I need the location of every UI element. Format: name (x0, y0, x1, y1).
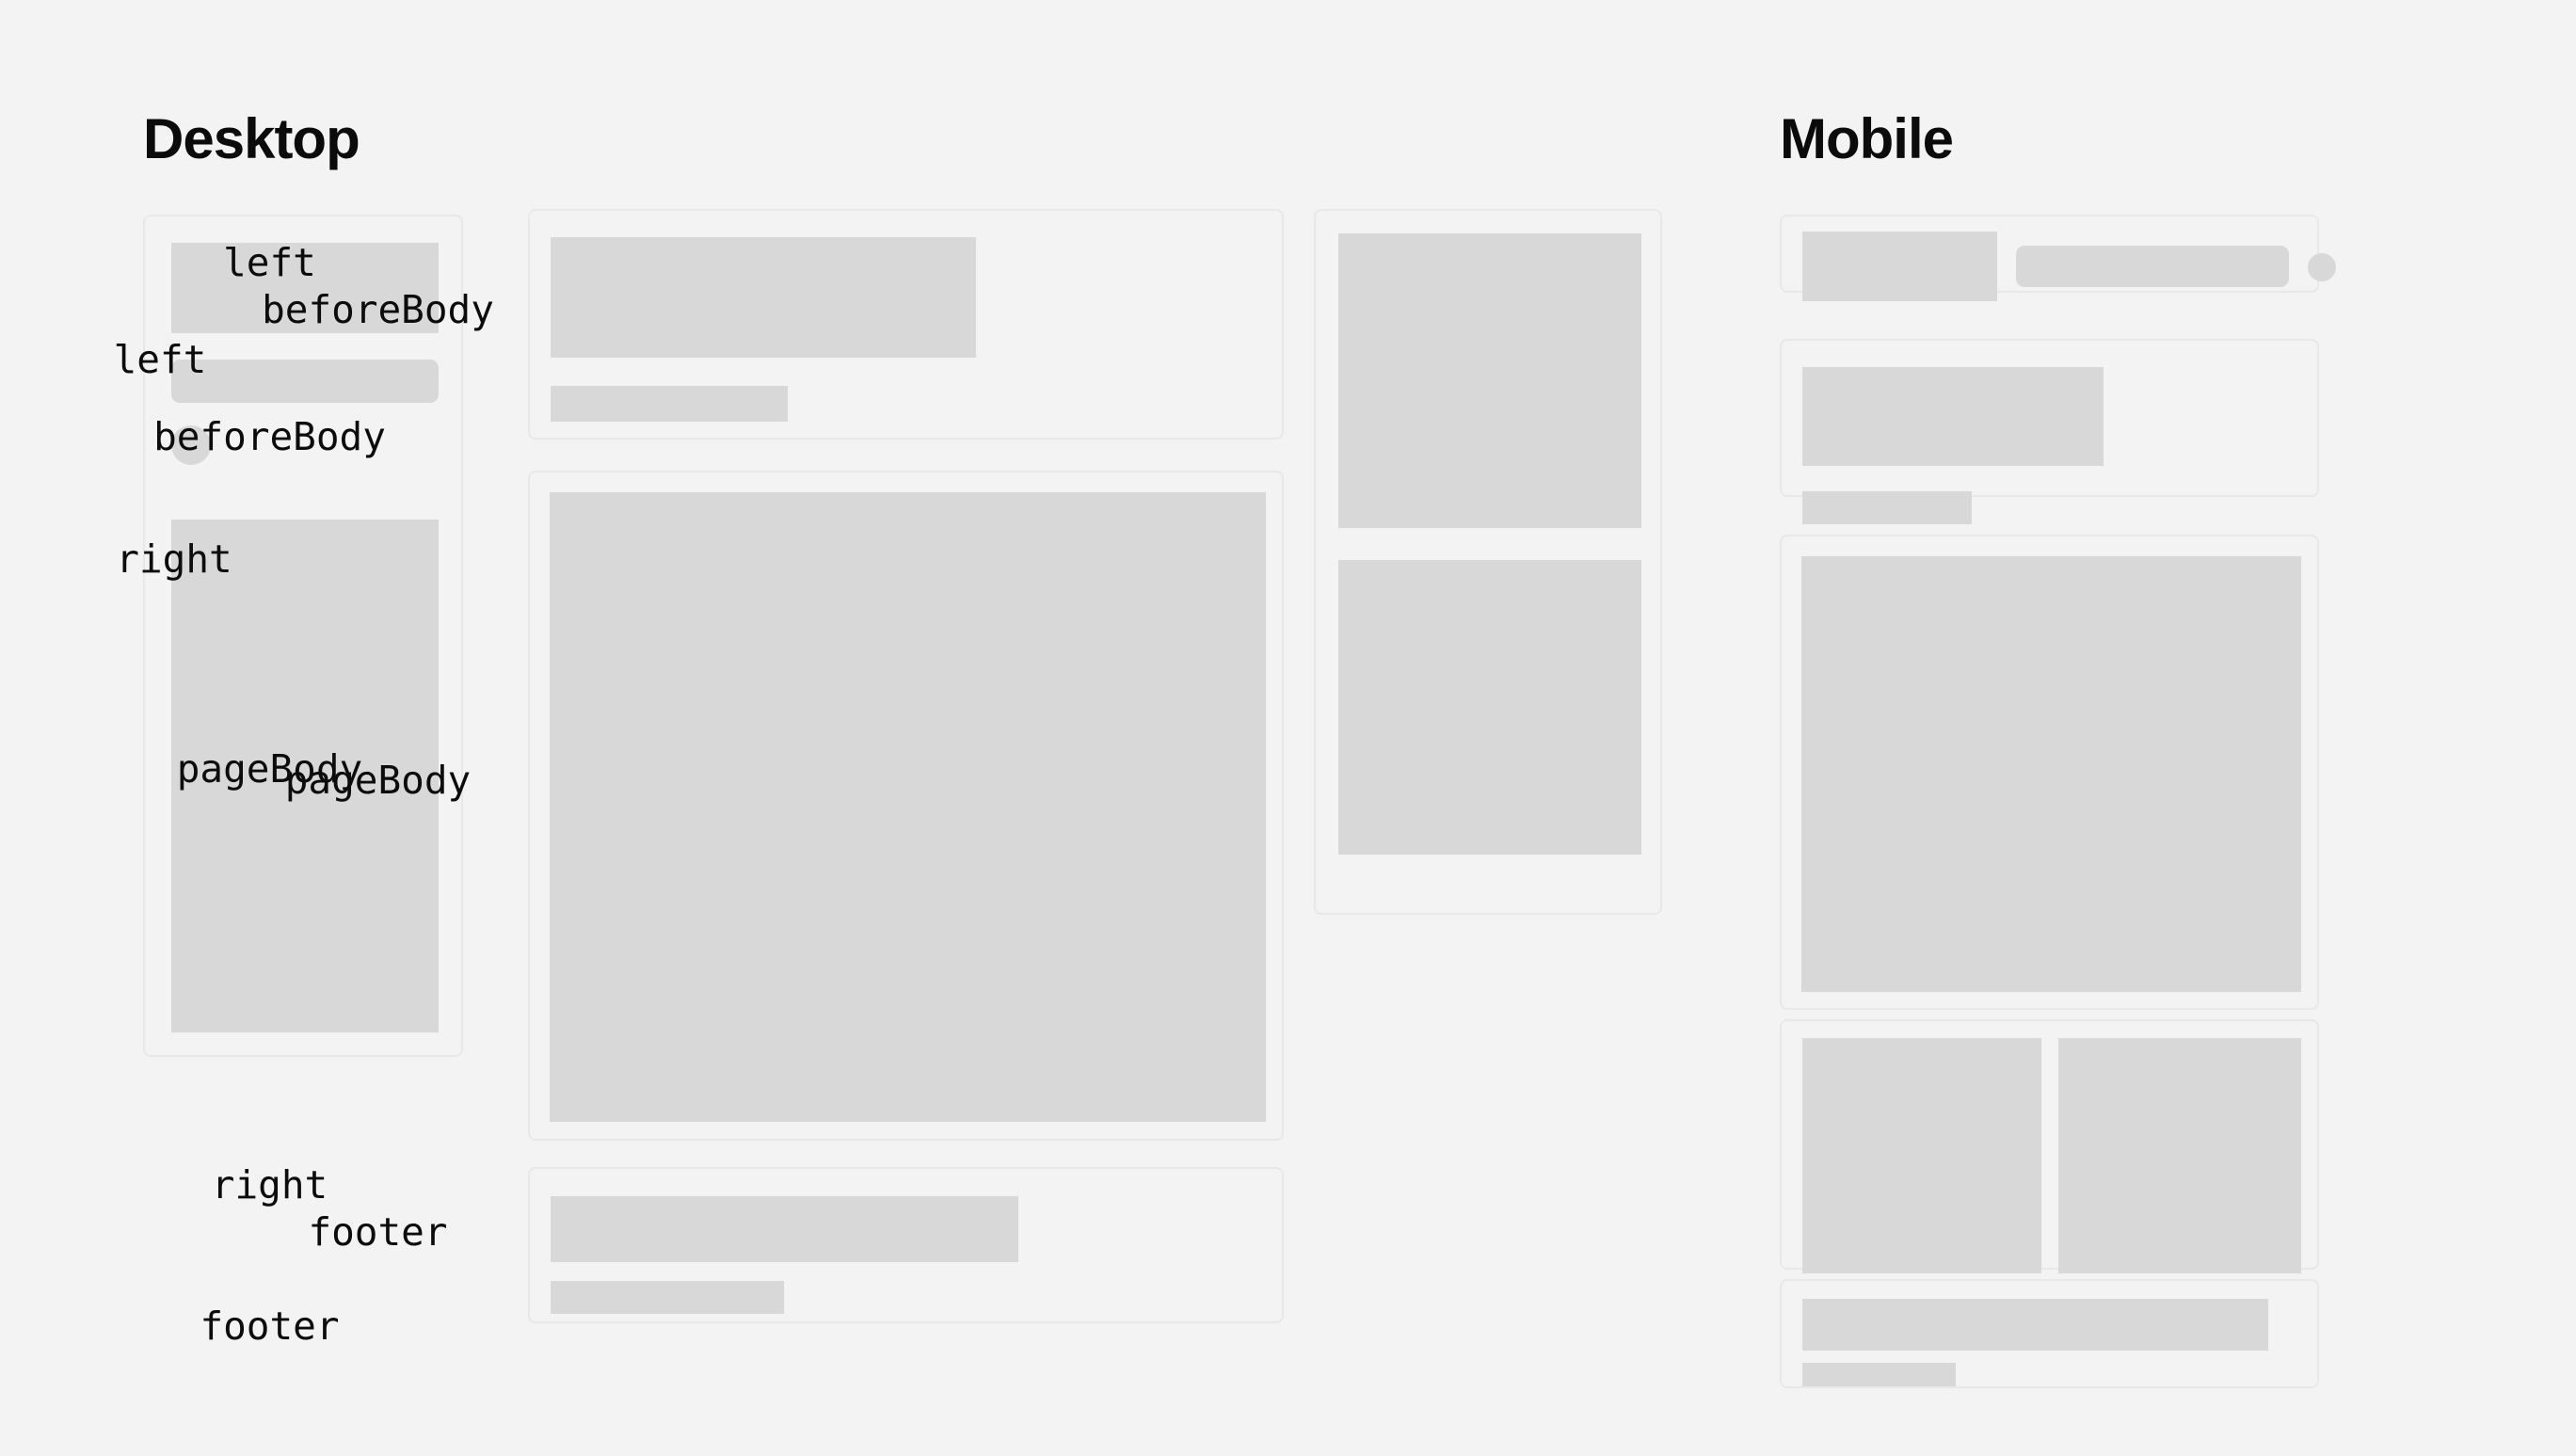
placeholder-block-fill (1801, 556, 2301, 992)
placeholder-block-bar (171, 360, 439, 403)
placeholder-block-right (2058, 1038, 2301, 1273)
desktop-panel-beforebody[interactable] (528, 209, 1284, 440)
mobile-slot-label-footer: footer (0, 1304, 539, 1349)
placeholder-block-left (1802, 1038, 2041, 1273)
mobile-slot-label-right: right (0, 1162, 539, 1208)
placeholder-block-wide (551, 237, 976, 358)
mobile-panel-left[interactable] (1780, 215, 2319, 293)
placeholder-block-fill (550, 492, 1266, 1122)
avatar-circle-icon (171, 425, 211, 465)
avatar-circle-icon (2308, 253, 2336, 281)
mobile-panel-footer[interactable] (1780, 1279, 2319, 1388)
placeholder-block-pill (2016, 246, 2289, 287)
placeholder-block-bottom (1338, 560, 1641, 855)
placeholder-block-tall (171, 520, 439, 1032)
desktop-panel-pagebody[interactable] (528, 471, 1284, 1141)
placeholder-block-wide (551, 1196, 1018, 1262)
placeholder-block-small (1802, 1363, 1956, 1386)
placeholder-block-square (1802, 232, 1997, 301)
placeholder-block-small (551, 386, 788, 422)
desktop-panel-left[interactable] (143, 215, 463, 1057)
desktop-section-title: Desktop (143, 111, 360, 168)
mobile-section-title: Mobile (1780, 111, 1953, 168)
placeholder-block-wide (1802, 367, 2104, 466)
placeholder-block-small (1802, 491, 1972, 524)
mobile-panel-right[interactable] (1780, 1019, 2319, 1270)
placeholder-block-large (171, 243, 439, 333)
desktop-panel-footer[interactable] (528, 1167, 1284, 1323)
desktop-panel-right[interactable] (1314, 209, 1662, 915)
mobile-panel-beforebody[interactable] (1780, 339, 2319, 497)
placeholder-block-wide (1802, 1299, 2268, 1351)
mobile-panel-pagebody[interactable] (1780, 535, 2319, 1010)
placeholder-block-top (1338, 233, 1641, 528)
placeholder-block-small (551, 1281, 784, 1314)
